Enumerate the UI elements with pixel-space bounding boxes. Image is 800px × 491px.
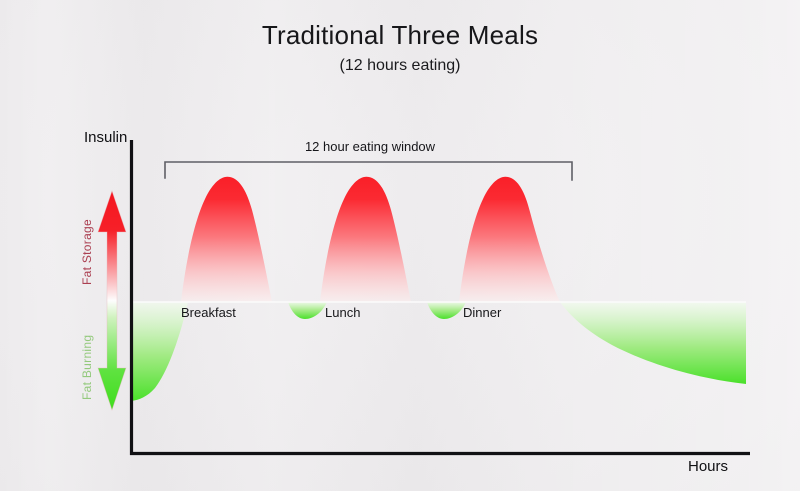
eating-window-label: 12 hour eating window [240,139,500,154]
chart-canvas: Traditional Three Meals (12 hours eating… [0,0,800,491]
insulin-peak-breakfast [181,177,272,302]
insulin-peak-dinner [459,177,560,302]
meal-label-lunch: Lunch [325,305,360,320]
fat-burning-dip-afternoon [427,302,466,319]
page-title: Traditional Three Meals [0,20,800,51]
meal-label-dinner: Dinner [463,305,501,320]
y-axis-label: Insulin [84,129,127,146]
fat-burning-label: Fat Burning [80,335,94,400]
insulin-peak-lunch [320,177,411,302]
fat-burning-area-overnight [560,302,746,384]
meal-label-breakfast: Breakfast [181,305,236,320]
fat-burning-dip-midmorning [288,302,327,319]
fat-storage-label: Fat Storage [80,219,94,285]
fat-storage-burning-arrow [98,191,126,410]
page-subtitle: (12 hours eating) [0,57,800,75]
fat-burning-area-morning [131,302,188,401]
x-axis-label: Hours [688,458,728,475]
